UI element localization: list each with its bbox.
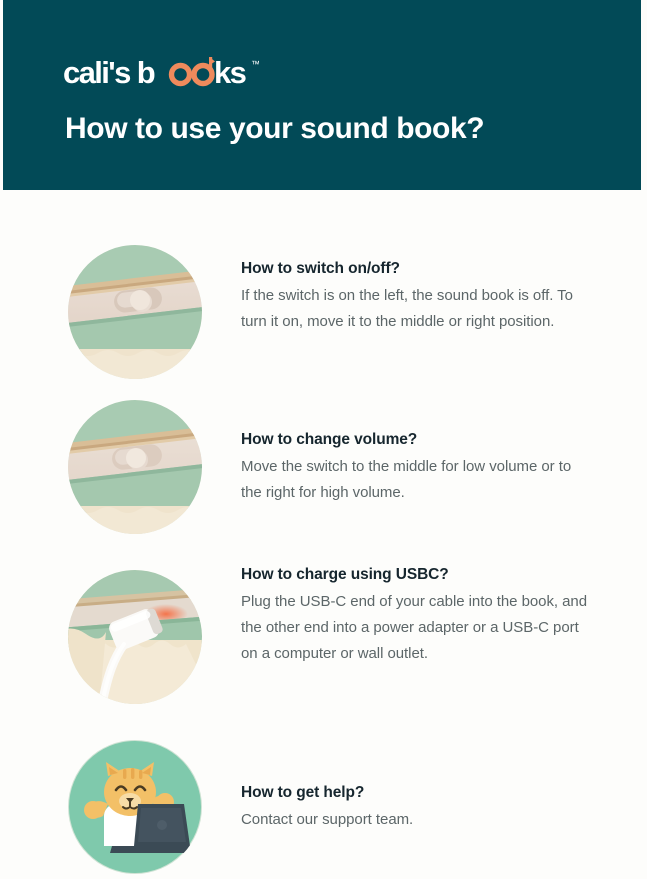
book-spine-switch-left-photo: [68, 245, 202, 379]
instruction-body: If the switch is on the left, the sound …: [241, 283, 593, 335]
instructions-list: How to switch on/off? If the switch is o…: [0, 190, 647, 879]
instruction-body: Plug the USB-C end of your cable into th…: [241, 589, 593, 666]
cat-with-laptop-illustration: [68, 740, 202, 874]
instruction-text: How to get help? Contact our support tea…: [241, 783, 593, 833]
usbc-cable-plugged-photo: [68, 570, 202, 704]
instruction-body: Contact our support team.: [241, 807, 593, 833]
support-cat-icon: [68, 740, 202, 874]
calis-books-logo-icon: cali's b ks ™: [63, 55, 259, 91]
page-header: cali's b ks ™ How to use your sound book…: [3, 0, 641, 190]
instruction-title: How to get help?: [241, 783, 593, 802]
instruction-title: How to change volume?: [241, 430, 593, 449]
svg-text:™: ™: [251, 59, 259, 69]
instruction-title: How to switch on/off?: [241, 259, 593, 278]
instruction-text: How to change volume? Move the switch to…: [241, 430, 593, 506]
brand-logo: cali's b ks ™: [63, 57, 259, 91]
instruction-page: cali's b ks ™ How to use your sound book…: [0, 0, 647, 879]
usbc-charging-image: [68, 570, 202, 704]
instruction-text: How to charge using USBC? Plug the USB-C…: [241, 565, 593, 667]
instruction-body: Move the switch to the middle for low vo…: [241, 454, 593, 506]
switch-middle-image: [68, 400, 202, 534]
page-title: How to use your sound book?: [65, 112, 484, 145]
svg-text:ks: ks: [214, 55, 246, 90]
instruction-text: How to switch on/off? If the switch is o…: [241, 259, 593, 335]
book-spine-switch-middle-photo: [68, 400, 202, 534]
svg-text:cali's b: cali's b: [63, 55, 155, 90]
instruction-title: How to charge using USBC?: [241, 565, 593, 584]
switch-left-image: [68, 245, 202, 379]
